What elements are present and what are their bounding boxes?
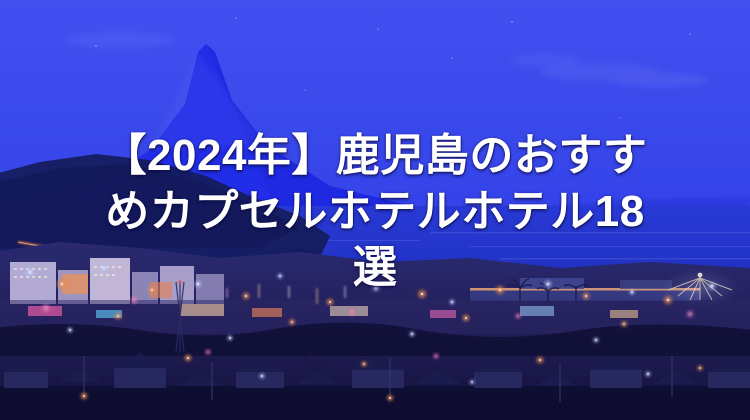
hero-title-line-2: めカプセルホテルホテル18	[38, 184, 712, 240]
article-hero-banner: 【2024年】鹿児島のおすす めカプセルホテルホテル18 選	[0, 0, 750, 420]
hero-title: 【2024年】鹿児島のおすす めカプセルホテルホテル18 選	[0, 128, 750, 296]
hero-title-line-3: 選	[38, 240, 712, 296]
hero-title-line-1: 【2024年】鹿児島のおすす	[38, 128, 712, 184]
